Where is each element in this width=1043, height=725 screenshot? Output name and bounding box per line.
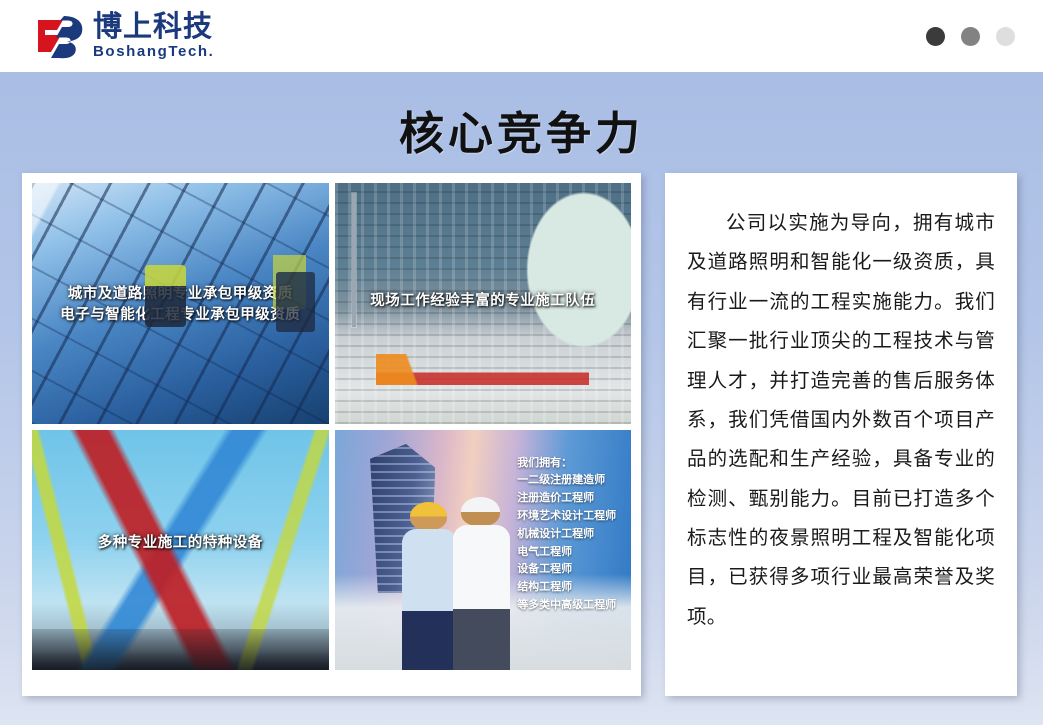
photo-grid: 城市及道路照明专业承包甲级资质 电子与智能化工程专业承包甲级资质 现场工作经验丰… — [32, 183, 631, 670]
qualification-item: 结构工程师 — [517, 578, 616, 596]
caption-line-2: 电子与智能化工程专业承包甲级资质 — [32, 305, 329, 326]
boshang-b-mark-icon — [36, 13, 86, 59]
qualification-item: 设备工程师 — [517, 560, 616, 578]
dot-mid-icon[interactable] — [961, 27, 980, 46]
photo-grid-card: 城市及道路照明专业承包甲级资质 电子与智能化工程专业承包甲级资质 现场工作经验丰… — [22, 173, 641, 696]
qualification-item: 等多类中高级工程师 — [517, 596, 616, 614]
engineer-white-helmet — [450, 497, 512, 670]
photo-glass-facade-workers[interactable]: 城市及道路照明专业承包甲级资质 电子与智能化工程专业承包甲级资质 — [32, 183, 329, 424]
caption-line-1: 城市及道路照明专业承包甲级资质 — [32, 284, 329, 305]
logo-wordmark: 博上科技 BoshangTech. — [93, 12, 214, 59]
caption-line-1: 现场工作经验丰富的专业施工队伍 — [335, 291, 632, 312]
qualification-item: 一二级注册建造师 — [517, 471, 616, 489]
page-header: 博上科技 BoshangTech. — [0, 0, 1043, 72]
page-title: 核心竞争力 — [0, 97, 1043, 162]
qualification-item: 电气工程师 — [517, 543, 616, 561]
qualification-item: 注册造价工程师 — [517, 489, 616, 507]
qualification-item: 环境艺术设计工程师 — [517, 507, 616, 525]
dot-dark-icon[interactable] — [926, 27, 945, 46]
caption-line-1: 多种专业施工的特种设备 — [32, 533, 329, 554]
slide-root: 博上科技 BoshangTech. 核心竞争力 城市及道路照明专业承包甲级资质 … — [0, 0, 1043, 725]
description-card: 公司以实施为导向，拥有城市及道路照明和智能化一级资质，具有行业一流的工程实施能力… — [665, 173, 1017, 696]
description-paragraph: 公司以实施为导向，拥有城市及道路照明和智能化一级资质，具有行业一流的工程实施能力… — [687, 203, 995, 636]
logo-english-name: BoshangTech. — [93, 44, 214, 59]
qualification-heading: 我们拥有： — [517, 454, 616, 472]
dot-light-icon[interactable] — [996, 27, 1015, 46]
company-logo[interactable]: 博上科技 BoshangTech. — [36, 12, 214, 59]
photo-caption-2: 现场工作经验丰富的专业施工队伍 — [335, 291, 632, 312]
photo-engineers-skyline[interactable]: 我们拥有： 一二级注册建造师 注册造价工程师 环境艺术设计工程师 机械设计工程师… — [335, 430, 632, 671]
header-dots — [926, 27, 1015, 46]
qualification-list: 我们拥有： 一二级注册建造师 注册造价工程师 环境艺术设计工程师 机械设计工程师… — [517, 454, 616, 614]
qualification-item: 机械设计工程师 — [517, 525, 616, 543]
photo-cranes-boom-lifts[interactable]: 多种专业施工的特种设备 — [32, 430, 329, 671]
logo-chinese-name: 博上科技 — [93, 12, 214, 41]
photo-construction-site-dome[interactable]: 现场工作经验丰富的专业施工队伍 — [335, 183, 632, 424]
photo-caption-1: 城市及道路照明专业承包甲级资质 电子与智能化工程专业承包甲级资质 — [32, 284, 329, 326]
photo-caption-3: 多种专业施工的特种设备 — [32, 533, 329, 554]
